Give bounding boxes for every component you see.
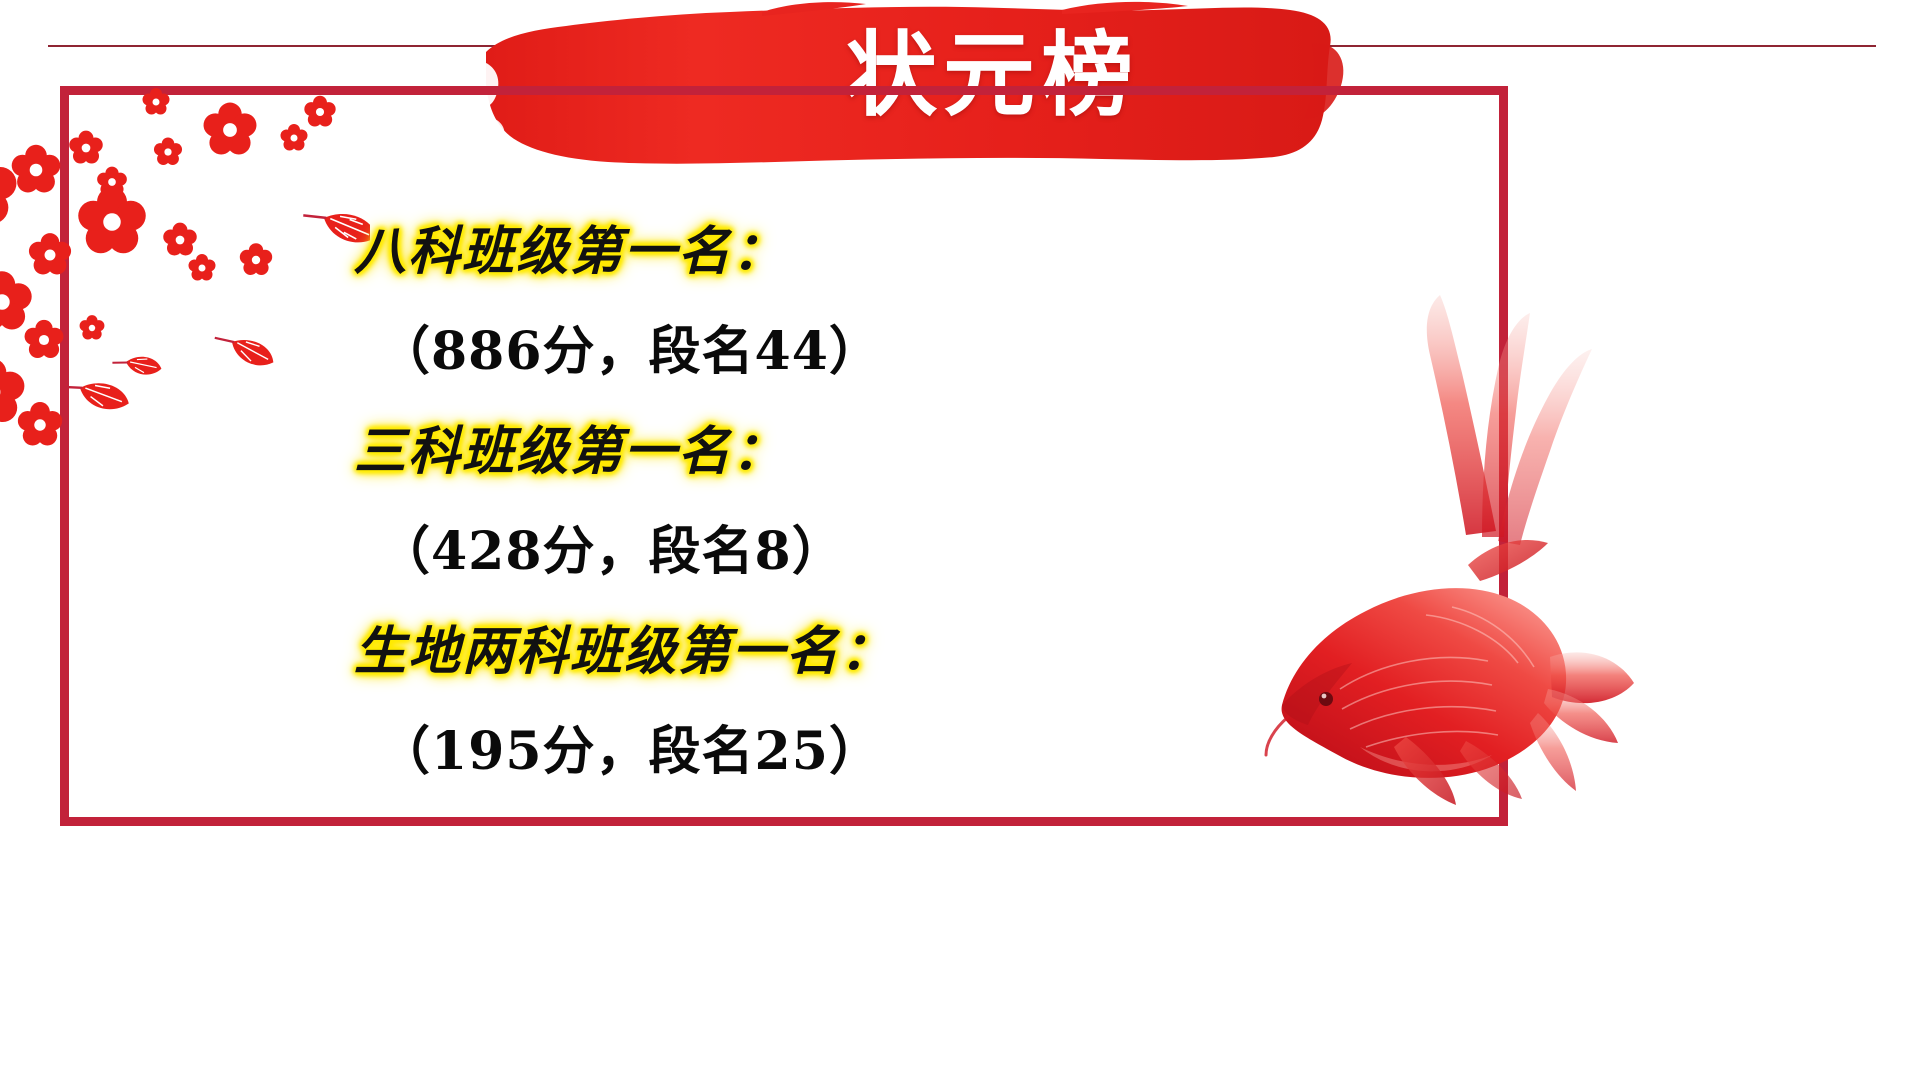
entry-heading-row: 三科班级第一名： <box>330 396 1090 496</box>
entry-heading-row: 八科班级第一名： <box>330 196 1090 296</box>
entry-score-row: （195分，段名25） <box>330 696 1090 796</box>
entry-score-2: （428分，段名8） <box>330 509 845 584</box>
slide-canvas: 状元榜 <box>0 0 1919 1080</box>
entry-heading-row: 生地两科班级第一名： <box>330 596 1090 696</box>
koi-fish-icon <box>1230 285 1650 815</box>
entry-heading-1: 八科班级第一名： <box>330 209 786 284</box>
entry-heading-2: 三科班级第一名： <box>330 409 786 484</box>
entry-score-row: （428分，段名8） <box>330 496 1090 596</box>
plum-blossom-icon <box>0 40 370 470</box>
entry-score-3: （195分，段名25） <box>330 709 882 784</box>
entry-heading-3: 生地两科班级第一名： <box>330 609 894 684</box>
entry-score-1: （886分，段名44） <box>330 309 882 384</box>
entries-list: 八科班级第一名： （886分，段名44） 三科班级第一名： （428分，段名8）… <box>330 196 1090 796</box>
entry-score-row: （886分，段名44） <box>330 296 1090 396</box>
